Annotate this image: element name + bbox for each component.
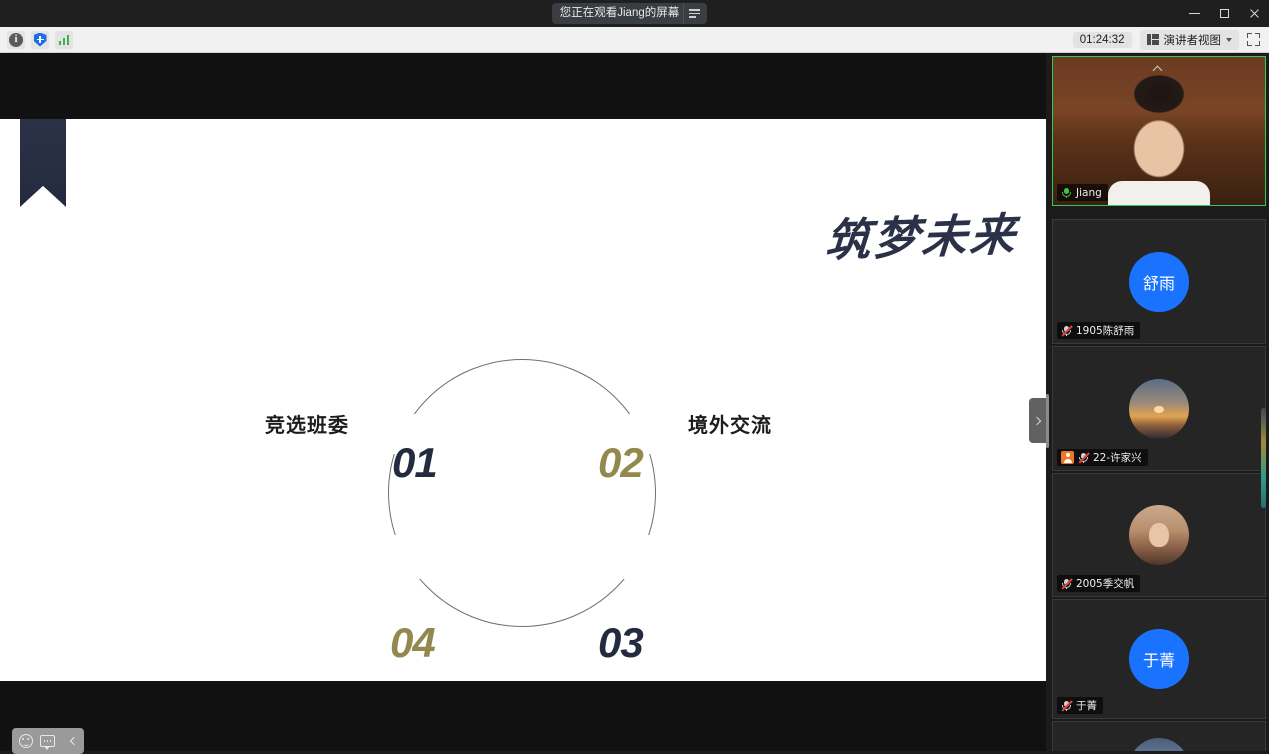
ribbon-bookmark-shape	[20, 119, 66, 207]
ring-gap-left-bottom	[382, 535, 432, 579]
participant-name: 于菁	[1076, 698, 1097, 713]
participant-name-badge: 于菁	[1057, 697, 1103, 714]
diagram-ring	[388, 359, 656, 627]
toolbar-right-group: 01:24:32 演讲者视图	[1073, 30, 1269, 50]
participant-tile-yujing[interactable]: 于菁 于菁	[1052, 599, 1266, 719]
shared-screen-stage: 筑梦未来 01 02 03 04 竞选班委 境外交流 参加竞赛 选择考公 激活 …	[0, 53, 1046, 751]
avatar	[1129, 379, 1189, 439]
participant-tile-jiang[interactable]: Jiang	[1052, 56, 1266, 206]
microphone-muted-icon	[1061, 700, 1072, 712]
panel-scrollbar[interactable]	[1261, 408, 1266, 508]
panel-collapse-handle[interactable]	[1029, 398, 1046, 443]
participant-name: 2005季交帆	[1076, 576, 1134, 591]
participant-name: 1905陈舒雨	[1076, 323, 1134, 338]
view-mode-label: 演讲者视图	[1164, 32, 1222, 48]
network-signal-icon[interactable]	[55, 31, 73, 49]
emoji-reaction-icon[interactable]	[19, 734, 33, 748]
participant-tile-chenshuyu[interactable]: 舒雨 1905陈舒雨	[1052, 219, 1266, 344]
diagram-label-02: 境外交流	[688, 409, 772, 438]
meeting-timer: 01:24:32	[1073, 32, 1132, 48]
participant-name-badge: 1905陈舒雨	[1057, 322, 1140, 339]
participant-video-feed	[1053, 57, 1265, 205]
toolbar-left-group: i	[0, 31, 73, 49]
participant-name: Jiang	[1076, 187, 1102, 199]
participant-name-badge: Jiang	[1057, 184, 1108, 201]
microphone-muted-icon	[1078, 452, 1089, 464]
chevron-left-icon[interactable]	[69, 738, 77, 744]
ring-gap-right-bottom	[612, 535, 662, 579]
avatar	[1129, 738, 1189, 751]
diagram-number-03: 03	[598, 619, 643, 667]
participant-tile-xujiaxing[interactable]: 22-许家兴	[1052, 346, 1266, 471]
hamburger-icon[interactable]	[683, 3, 705, 24]
security-shield-icon[interactable]	[31, 31, 49, 49]
maximize-icon[interactable]	[1209, 0, 1239, 27]
diagram-label-04: 选择考公	[265, 676, 349, 681]
diagram-label-03: 参加竞赛	[688, 676, 772, 681]
microphone-muted-icon	[1061, 325, 1072, 337]
layout-icon	[1147, 34, 1159, 45]
slide-calligraphy-title: 筑梦未来	[823, 198, 1020, 270]
circular-diagram	[388, 359, 656, 627]
screen-share-notice-label: 您正在观看Jiang的屏幕	[560, 3, 680, 24]
chevron-down-icon[interactable]	[1226, 38, 1232, 42]
info-icon[interactable]: i	[7, 31, 25, 49]
avatar: 于菁	[1129, 629, 1189, 689]
screen-share-notice: 您正在观看Jiang的屏幕	[552, 3, 708, 24]
annotation-float-toolbar	[12, 728, 84, 754]
microphone-muted-icon	[1061, 578, 1072, 590]
comment-bubble-icon[interactable]	[40, 735, 55, 747]
fullscreen-icon[interactable]	[1247, 33, 1260, 46]
meeting-toolbar: i 01:24:32 演讲者视图	[0, 27, 1269, 53]
participant-name-badge: 2005季交帆	[1057, 575, 1140, 592]
participant-name-badge: 22-许家兴	[1057, 449, 1148, 466]
participant-tile-jijiaofan[interactable]: 2005季交帆	[1052, 473, 1266, 597]
chevron-up-icon[interactable]	[1152, 67, 1166, 75]
avatar	[1129, 505, 1189, 565]
microphone-icon	[1061, 187, 1072, 199]
participant-name: 22-许家兴	[1093, 450, 1142, 465]
diagram-number-01: 01	[392, 439, 437, 487]
participant-tile-partial[interactable]	[1052, 721, 1266, 751]
window-controls	[1179, 0, 1269, 27]
view-mode-switch[interactable]: 演讲者视图	[1140, 30, 1240, 50]
chevron-right-icon	[1032, 416, 1040, 424]
diagram-number-02: 02	[598, 439, 643, 487]
diagram-number-04: 04	[390, 619, 435, 667]
diagram-label-01: 竞选班委	[265, 409, 349, 438]
title-bar: 您正在观看Jiang的屏幕	[0, 0, 1269, 27]
presentation-slide: 筑梦未来 01 02 03 04 竞选班委 境外交流 参加竞赛 选择考公 激活 …	[0, 119, 1046, 681]
participant-panel: Jiang 舒雨 1905陈舒雨 22-许家兴 2005季交帆	[1049, 53, 1269, 751]
close-icon[interactable]	[1239, 0, 1269, 27]
host-person-icon	[1061, 451, 1074, 464]
minimize-icon[interactable]	[1179, 0, 1209, 27]
avatar: 舒雨	[1129, 252, 1189, 312]
